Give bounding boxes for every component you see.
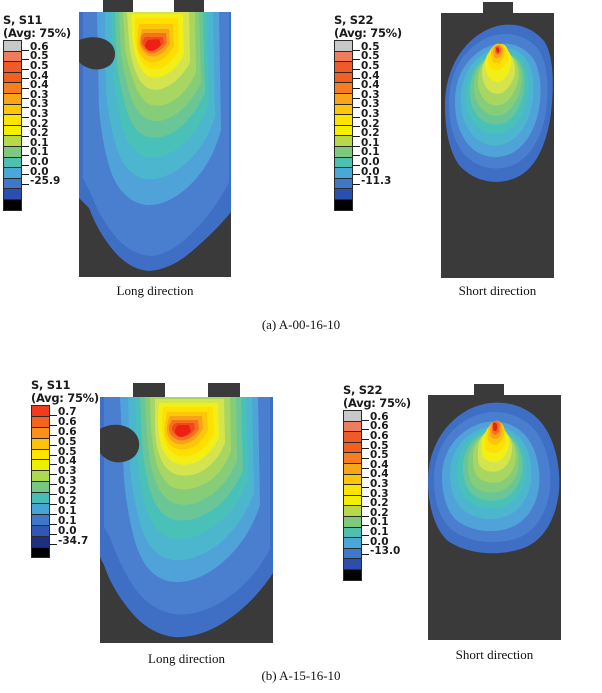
legend-a-s11-title-line1: S, S11 (3, 14, 71, 27)
legend-swatch (4, 62, 21, 73)
legend-swatch (344, 549, 361, 560)
load-tab-center (483, 2, 513, 13)
legend-tick (22, 165, 29, 166)
figure-panel-a: S, S11 (Avg: 75%) 0.60.50.50.40.40.30.30… (0, 0, 602, 340)
legend-tick (362, 458, 369, 459)
legend-tick (50, 445, 57, 446)
legend-swatch (335, 179, 352, 190)
legend-b-s11: S, S11 (Avg: 75%) 0.70.60.60.50.50.40.30… (31, 379, 99, 558)
contour-plot-b-s11 (100, 397, 273, 643)
legend-swatch (335, 115, 352, 126)
legend-swatch (32, 417, 49, 428)
legend-swatch (32, 450, 49, 461)
legend-swatch (4, 73, 21, 84)
legend-b-s22: S, S22 (Avg: 75%) 0.60.60.60.50.50.40.40… (343, 384, 411, 581)
specimen-a-s22-tabs (441, 2, 554, 13)
contour-svg-b-s11 (100, 397, 273, 643)
legend-tick (22, 126, 29, 127)
specimen-b-s22-tabs (428, 384, 561, 395)
legend-tick (50, 484, 57, 485)
legend-tick (362, 516, 369, 517)
legend-tick (50, 544, 57, 545)
legend-swatch (32, 526, 49, 537)
legend-swatch (32, 482, 49, 493)
legend-a-s22-labels: 0.50.50.50.40.40.30.30.30.20.20.10.10.00… (361, 40, 395, 196)
legend-tick (362, 429, 369, 430)
legend-tick (353, 117, 360, 118)
legend-value-label: -13.0 (370, 545, 400, 557)
legend-swatch (32, 428, 49, 439)
legend-swatch (344, 570, 361, 580)
legend-swatch (4, 147, 21, 158)
legend-tick (22, 50, 29, 51)
legend-swatch (344, 432, 361, 443)
legend-swatch (335, 73, 352, 84)
legend-a-s11-labels: 0.60.50.50.40.40.30.30.30.20.20.10.10.00… (30, 40, 64, 196)
legend-tick (362, 496, 369, 497)
legend-tick (362, 525, 369, 526)
specimen-a-s11-tabs (79, 0, 231, 12)
legend-tick (362, 477, 369, 478)
legend-a-s11-title-line2: (Avg: 75%) (3, 27, 71, 40)
legend-tick (22, 78, 29, 79)
panel-b-caption: (b) A-15-16-10 (0, 668, 602, 684)
legend-tick (22, 174, 29, 175)
figure-panel-b: S, S11 (Avg: 75%) 0.70.60.60.50.50.40.30… (0, 340, 602, 693)
load-tab-left (133, 383, 165, 397)
legend-tick (22, 146, 29, 147)
legend-tick (22, 98, 29, 99)
legend-swatch (335, 83, 352, 94)
legend-swatch (344, 528, 361, 539)
legend-swatch (32, 548, 49, 558)
legend-value-label: -11.3 (361, 175, 391, 187)
legend-swatch (344, 453, 361, 464)
legend-swatch (32, 471, 49, 482)
legend-a-s11-ticks (22, 40, 29, 196)
legend-tick (362, 544, 369, 545)
legend-swatch (344, 496, 361, 507)
legend-value-label: -34.7 (58, 535, 88, 547)
legend-swatch (4, 158, 21, 169)
legend-swatch (335, 52, 352, 63)
legend-tick (362, 468, 369, 469)
legend-a-s11: S, S11 (Avg: 75%) 0.60.50.50.40.40.30.30… (3, 14, 71, 211)
legend-tick (362, 448, 369, 449)
legend-tick (353, 155, 360, 156)
direction-label-b-s22: Short direction (422, 647, 567, 663)
legend-tick (50, 514, 57, 515)
legend-swatch (335, 94, 352, 105)
legend-swatch (335, 147, 352, 158)
legend-tick (50, 455, 57, 456)
legend-tick (22, 184, 29, 185)
legend-tick (22, 117, 29, 118)
legend-swatch (344, 517, 361, 528)
legend-b-s22-title-line2: (Avg: 75%) (343, 397, 411, 410)
legend-swatch (335, 200, 352, 210)
legend-swatch (32, 460, 49, 471)
contour-svg-a-s22 (441, 13, 554, 278)
legend-tick (22, 107, 29, 108)
legend-swatch (344, 475, 361, 486)
legend-swatch (335, 168, 352, 179)
legend-tick (353, 126, 360, 127)
legend-swatch (4, 179, 21, 190)
specimen-a-s11: Long direction (79, 0, 231, 277)
legend-tick (22, 155, 29, 156)
specimen-b-s11: Long direction (100, 383, 273, 643)
legend-swatch (335, 158, 352, 169)
legend-tick (353, 136, 360, 137)
legend-swatch (344, 559, 361, 570)
contour-svg-a-s11 (79, 12, 231, 277)
legend-tick (353, 184, 360, 185)
load-tab-right (174, 0, 204, 12)
legend-swatch (335, 62, 352, 73)
legend-b-s22-colorbar (343, 410, 362, 581)
legend-tick (50, 494, 57, 495)
direction-label-a-s22: Short direction (435, 283, 560, 299)
legend-swatch (4, 115, 21, 126)
legend-a-s11-colorbar (3, 40, 22, 211)
legend-swatch (335, 126, 352, 137)
legend-tick (353, 59, 360, 60)
direction-label-b-s11: Long direction (100, 651, 273, 667)
legend-swatch (32, 515, 49, 526)
legend-a-s22-title-line1: S, S22 (334, 14, 402, 27)
legend-tick (353, 146, 360, 147)
legend-tick (353, 174, 360, 175)
legend-tick (50, 435, 57, 436)
legend-swatch (4, 126, 21, 137)
direction-label-a-s11: Long direction (79, 283, 231, 299)
legend-b-s11-labels: 0.70.60.60.50.50.40.30.30.20.20.10.10.0-… (58, 405, 92, 546)
legend-b-s11-ticks (50, 405, 57, 546)
legend-swatch (344, 485, 361, 496)
contour-plot-a-s11 (79, 12, 231, 277)
legend-swatch (4, 105, 21, 116)
legend-tick (50, 474, 57, 475)
legend-swatch (344, 443, 361, 454)
legend-value-label: -25.9 (30, 175, 60, 187)
legend-tick (362, 554, 369, 555)
legend-tick (50, 524, 57, 525)
specimen-b-s11-tabs (100, 383, 273, 397)
legend-tick (22, 59, 29, 60)
load-tab-left (103, 0, 133, 12)
legend-swatch (335, 41, 352, 52)
legend-tick (353, 98, 360, 99)
legend-tick (22, 69, 29, 70)
panel-a-caption: (a) A-00-16-10 (0, 317, 602, 333)
legend-tick (50, 425, 57, 426)
legend-swatch (32, 493, 49, 504)
legend-swatch (4, 189, 21, 200)
legend-b-s22-title-line1: S, S22 (343, 384, 411, 397)
legend-b-s11-title-line2: (Avg: 75%) (31, 392, 99, 405)
legend-tick (22, 88, 29, 89)
legend-swatch (335, 105, 352, 116)
legend-swatch (32, 537, 49, 548)
load-tab-center (474, 384, 504, 395)
legend-tick (362, 420, 369, 421)
contour-plot-b-s22 (428, 395, 561, 640)
legend-tick (362, 439, 369, 440)
legend-swatch (335, 136, 352, 147)
legend-tick (353, 165, 360, 166)
legend-swatch (344, 422, 361, 433)
legend-swatch (344, 411, 361, 422)
legend-swatch (32, 406, 49, 417)
legend-b-s11-title-line1: S, S11 (31, 379, 99, 392)
legend-a-s22: S, S22 (Avg: 75%) 0.50.50.50.40.40.30.30… (334, 14, 402, 211)
legend-tick (362, 487, 369, 488)
legend-swatch (4, 136, 21, 147)
legend-swatch (4, 200, 21, 210)
legend-tick (353, 50, 360, 51)
legend-swatch (344, 464, 361, 475)
specimen-b-s22: Short direction (428, 384, 561, 640)
legend-a-s22-colorbar (334, 40, 353, 211)
contour-svg-b-s22 (428, 395, 561, 640)
legend-swatch (32, 439, 49, 450)
legend-swatch (4, 83, 21, 94)
legend-a-s22-title-line2: (Avg: 75%) (334, 27, 402, 40)
legend-b-s11-colorbar (31, 405, 50, 558)
load-tab-right (208, 383, 240, 397)
legend-tick (353, 69, 360, 70)
specimen-a-s22: Short direction (441, 2, 554, 278)
legend-swatch (32, 504, 49, 515)
legend-tick (50, 504, 57, 505)
legend-tick (353, 107, 360, 108)
legend-swatch (344, 506, 361, 517)
legend-swatch (4, 41, 21, 52)
legend-b-s22-ticks (362, 410, 369, 566)
legend-tick (362, 506, 369, 507)
legend-tick (50, 415, 57, 416)
legend-tick (50, 464, 57, 465)
legend-swatch (4, 94, 21, 105)
legend-tick (22, 136, 29, 137)
contour-plot-a-s22 (441, 13, 554, 278)
legend-b-s22-labels: 0.60.60.60.50.50.40.40.30.30.20.20.10.10… (370, 410, 404, 566)
legend-tick (353, 88, 360, 89)
legend-tick (362, 535, 369, 536)
legend-swatch (4, 168, 21, 179)
legend-tick (353, 78, 360, 79)
legend-swatch (344, 538, 361, 549)
legend-a-s22-ticks (353, 40, 360, 196)
legend-swatch (4, 52, 21, 63)
legend-swatch (335, 189, 352, 200)
legend-tick (50, 534, 57, 535)
